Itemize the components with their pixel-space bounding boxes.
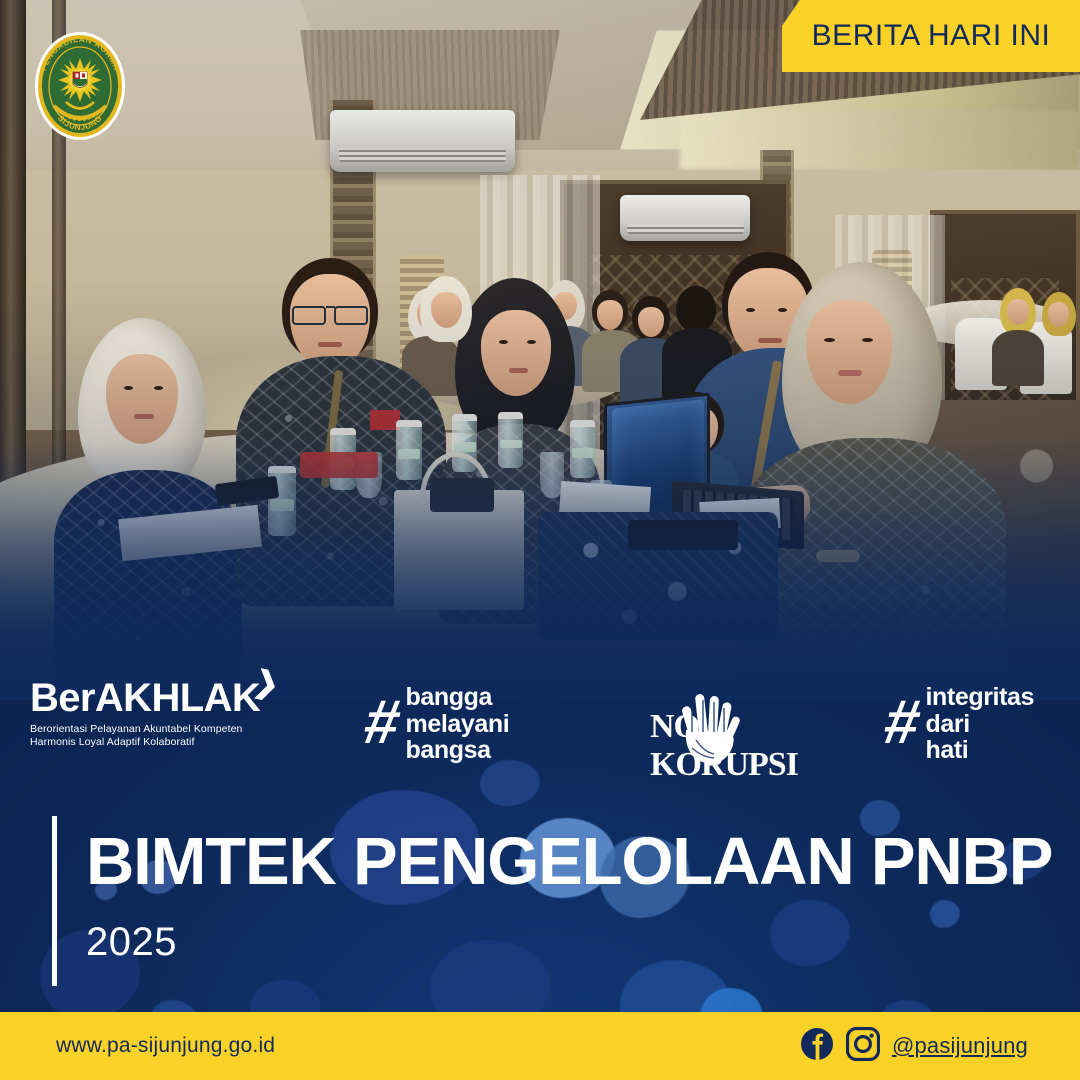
title-year: 2025: [86, 920, 177, 965]
integritas-dari-hati-logo: # integritas dari hati: [885, 684, 1034, 764]
bangga-melayani-bangsa-logo: # bangga melayani bangsa: [365, 684, 509, 764]
website-url[interactable]: www.pa-sijunjung.go.id: [56, 1034, 275, 1058]
news-badge: BERITA HARI INI: [782, 0, 1080, 72]
berakhlak-wordmark: BerAKHLAK: [30, 678, 260, 718]
stop-hand-icon: [672, 690, 746, 766]
hash-icon: #: [361, 698, 400, 749]
no-korupsi-logo: NO KORUPSI: [650, 694, 780, 764]
hash-icon: #: [881, 698, 920, 749]
poster-canvas: PENGADILAN AGAMA SIJUNJUNG: [0, 0, 1080, 1080]
instagram-icon[interactable]: [846, 1027, 880, 1066]
core-values-logo-strip: BerAKHLAK❯ Berorientasi Pelayanan Akunta…: [0, 672, 1080, 782]
integritas-line1: integritas: [925, 684, 1034, 711]
berakhlak-tagline-line1: Berorientasi Pelayanan Akuntabel Kompete…: [30, 723, 290, 736]
bangga-line1: bangga: [405, 684, 509, 711]
social-links: @pasijunjung: [800, 1027, 1028, 1066]
bangga-line3: bangsa: [405, 737, 509, 764]
berakhlak-logo: BerAKHLAK❯ Berorientasi Pelayanan Akunta…: [30, 678, 290, 750]
berakhlak-swoosh-icon: ❯: [251, 664, 283, 703]
integritas-line2: dari: [925, 711, 1034, 738]
social-handle[interactable]: @pasijunjung: [892, 1033, 1028, 1059]
court-logo: PENGADILAN AGAMA SIJUNJUNG: [32, 30, 128, 142]
page-title: BIMTEK PENGELOLAAN PNBP: [86, 828, 1052, 895]
event-photo: [0, 0, 1080, 700]
integritas-line3: hati: [925, 737, 1034, 764]
berakhlak-tagline-line2: Harmonis Loyal Adaptif Kolaboratif: [30, 736, 290, 749]
facebook-icon[interactable]: [800, 1027, 834, 1066]
bangga-line2: melayani: [405, 711, 509, 738]
news-badge-label: BERITA HARI INI: [812, 19, 1051, 53]
title-accent-bar: [52, 816, 57, 986]
footer-bar: www.pa-sijunjung.go.id @pasijunjung: [0, 1012, 1080, 1080]
